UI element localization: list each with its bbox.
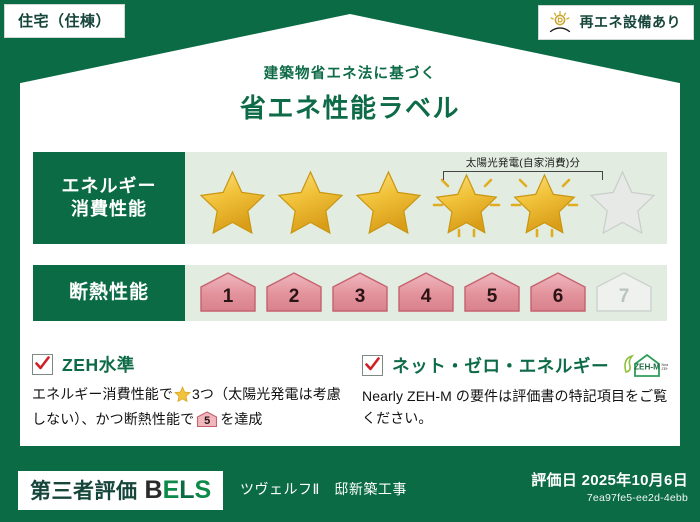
- zeh-m-logo: ZEH-M Nearly ZEH-M: [622, 352, 668, 379]
- insulation-performance-row: 断熱性能 1 2: [33, 265, 667, 321]
- svg-text:ZEH-M: ZEH-M: [662, 367, 669, 371]
- housing-type-text: 住宅（住棟）: [18, 13, 111, 30]
- insulation-grade-7-empty: 7: [593, 271, 655, 315]
- energy-label-line1: エネルギー: [62, 175, 157, 198]
- label-title-block: 建築物省エネ法に基づく 省エネ性能ラベル: [0, 62, 700, 125]
- zeh-standard-description: エネルギー消費性能で 3つ（太陽光発電は考慮しない）、かつ断熱性能で 5を達成: [32, 384, 347, 430]
- solar-annotation-bracket: [443, 171, 603, 180]
- evaluation-info: 評価日 2025年10月6日 7ea97fe5-ee2d-4ebb: [531, 469, 688, 504]
- insulation-grade-1: 1: [197, 271, 259, 315]
- zeh-desc-star-count: 3つ: [192, 386, 214, 402]
- net-zero-energy-checkbox[interactable]: [362, 355, 383, 376]
- energy-consumption-row: エネルギー 消費性能 太陽光発電(自家消費)分: [33, 152, 667, 244]
- bels-certification-badge: 第三者評価 BELS: [18, 471, 223, 510]
- solar-generation-annotation: 太陽光発電(自家消費)分: [443, 155, 603, 180]
- insulation-performance-label: 断熱性能: [33, 265, 185, 321]
- energy-star-1: [195, 166, 270, 238]
- net-zero-energy-description: Nearly ZEH-M の要件は評価書の特記項目をご覧ください。: [362, 386, 670, 429]
- insulation-grade-6-number: 6: [553, 286, 564, 315]
- inline-insulation-grade-number: 5: [196, 413, 218, 430]
- solar-annotation-text: 太陽光発電(自家消費)分: [443, 155, 603, 170]
- insulation-grade-1-number: 1: [223, 286, 234, 315]
- bels-wordmark: BELS: [145, 476, 212, 505]
- inline-star-icon: [174, 386, 191, 409]
- zeh-standard-title: ZEH水準: [62, 352, 135, 377]
- zeh-desc-part3: を達成: [220, 411, 262, 427]
- bels-letter-s: S: [195, 476, 212, 504]
- label-subtitle: 建築物省エネ法に基づく: [0, 62, 700, 83]
- energy-star-3: [351, 166, 426, 238]
- insulation-grade-4: 4: [395, 271, 457, 315]
- net-zero-energy-block: ネット・ゼロ・エネルギー ZEH-M Nearly ZEH-M Nearly Z…: [362, 352, 670, 429]
- insulation-grade-3-number: 3: [355, 286, 366, 315]
- solar-sun-icon: [547, 10, 573, 34]
- insulation-rating-area: 1 2 3 4: [185, 265, 667, 321]
- insulation-grade-3: 3: [329, 271, 391, 315]
- net-zero-energy-title: ネット・ゼロ・エネルギー: [392, 353, 609, 378]
- renewable-badge-label: 再エネ設備あり: [580, 12, 682, 32]
- energy-star-2: [273, 166, 348, 238]
- bels-letter-l: L: [179, 476, 194, 504]
- energy-label-line2: 消費性能: [71, 198, 147, 221]
- energy-rating-area: 太陽光発電(自家消費)分: [185, 152, 667, 244]
- insulation-grade-4-number: 4: [421, 286, 432, 315]
- insulation-grade-2: 2: [263, 271, 325, 315]
- energy-consumption-label: エネルギー 消費性能: [33, 152, 185, 244]
- bels-letter-b: B: [145, 476, 163, 504]
- energy-performance-label: 住宅（住棟） 再エネ設備あり 建築物省エネ法に基づく 省エネ性能ラベル: [0, 0, 700, 522]
- bels-letter-e: E: [163, 476, 180, 504]
- page-title: 省エネ性能ラベル: [0, 88, 700, 125]
- insulation-grade-6: 6: [527, 271, 589, 315]
- svg-text:ZEH-M: ZEH-M: [634, 363, 660, 372]
- housing-type-tag: 住宅（住棟）: [4, 4, 125, 38]
- zeh-standard-heading: ZEH水準: [32, 352, 347, 377]
- inline-insulation-grade-icon: 5: [196, 411, 218, 428]
- insulation-grade-5: 5: [461, 271, 523, 315]
- insulation-grade-5-number: 5: [487, 286, 498, 315]
- renewable-equipment-badge: 再エネ設備あり: [538, 5, 695, 40]
- insulation-label-text: 断熱性能: [69, 281, 149, 305]
- insulation-grade-scale: 1 2 3 4: [185, 271, 655, 315]
- zeh-standard-checkbox[interactable]: [32, 354, 53, 375]
- net-zero-energy-heading: ネット・ゼロ・エネルギー ZEH-M Nearly ZEH-M: [362, 352, 670, 379]
- project-name: ツヴェルフⅡ 邸新築工事: [240, 479, 407, 499]
- zeh-desc-part1: エネルギー消費性能で: [32, 386, 173, 402]
- zeh-standard-block: ZEH水準 エネルギー消費性能で 3つ（太陽光発電は考慮しない）、かつ断熱性能で…: [32, 352, 347, 430]
- evaluation-date: 評価日 2025年10月6日: [531, 469, 688, 490]
- insulation-grade-2-number: 2: [289, 286, 300, 315]
- label-footer: 第三者評価 BELS ツヴェルフⅡ 邸新築工事 評価日 2025年10月6日 7…: [0, 462, 700, 522]
- insulation-grade-7-number: 7: [619, 286, 630, 315]
- bels-jp-label: 第三者評価: [30, 475, 138, 505]
- evaluation-uid: 7ea97fe5-ee2d-4ebb: [531, 492, 688, 504]
